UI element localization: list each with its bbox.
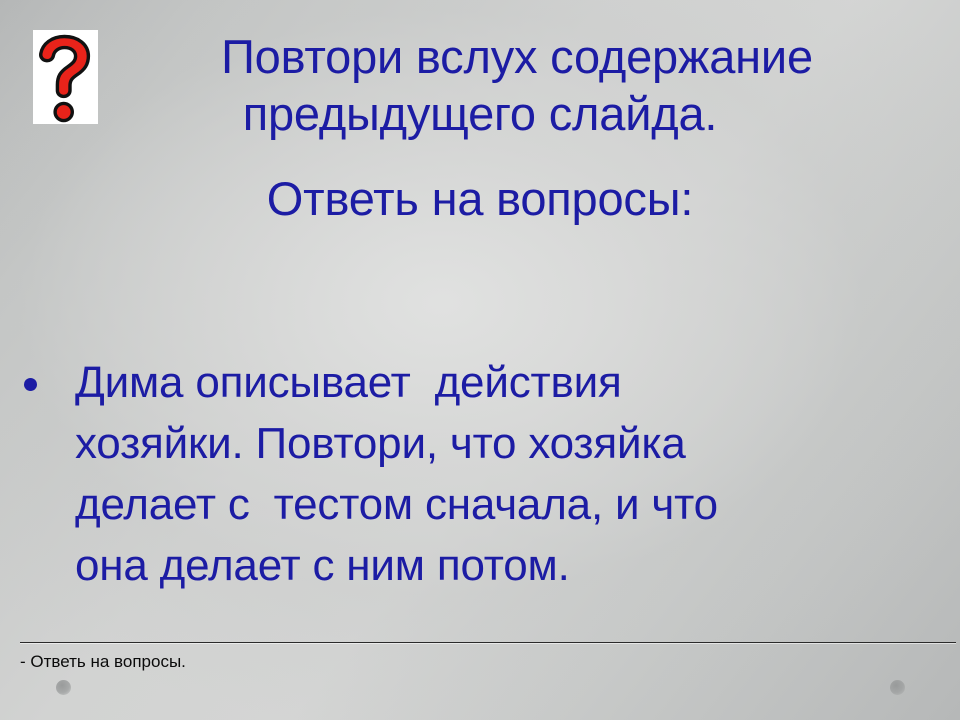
footer-divider <box>20 642 956 644</box>
decorative-dot-left <box>56 680 71 695</box>
body-line-4: она делает с ним потом. <box>75 535 942 596</box>
title-line-2: предыдущего слайда. <box>0 85 960 142</box>
slide-title: Повтори вслух содержание предыдущего сла… <box>0 28 960 227</box>
body-line-3: делает с тестом сначала, и что <box>75 474 942 535</box>
body-line-2: хозяйки. Повтори, что хозяйка <box>75 413 942 474</box>
title-line-1: Повтори вслух содержание <box>0 28 960 85</box>
footer-note: - Ответь на вопросы. <box>20 651 186 673</box>
slide-body: Дима описывает действия хозяйки. Повтори… <box>18 352 942 596</box>
title-line-3: Ответь на вопросы: <box>0 170 960 227</box>
bullet-item: Дима описывает действия хозяйки. Повтори… <box>18 352 942 596</box>
slide-canvas: Повтори вслух содержание предыдущего сла… <box>0 0 960 720</box>
bullet-dot-icon <box>24 378 37 391</box>
body-line-1: Дима описывает действия <box>75 352 942 413</box>
decorative-dot-right <box>890 680 905 695</box>
